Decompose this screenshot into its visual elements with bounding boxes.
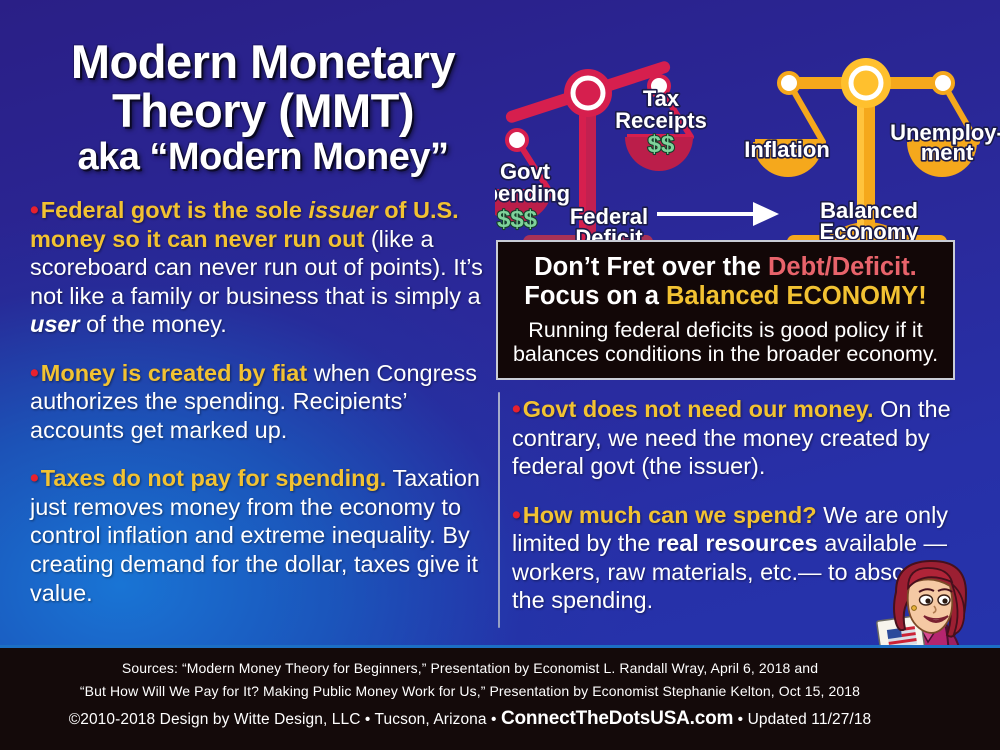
p2-highlight: Money is created by fiat: [41, 360, 307, 386]
footer-line-2: “But How Will We Pay for It? Making Publ…: [0, 680, 940, 703]
callout-head1-white: Don’t Fret over the: [534, 253, 768, 281]
website-link[interactable]: ConnectTheDotsUSA.com: [501, 708, 733, 729]
paragraph-govt-money: •Govt does not need our money. On the co…: [512, 395, 962, 481]
paragraph-issuer: •Federal govt is the sole issuer of U.S.…: [30, 196, 500, 339]
paragraph-taxes: •Taxes do not pay for spending. Taxation…: [30, 464, 500, 607]
bullet-icon: •: [30, 464, 39, 492]
bullet-icon: •: [512, 501, 521, 529]
infographic-poster: Modern Monetary Theory (MMT) aka “Modern…: [0, 0, 1000, 750]
unemployment-label-2: ment: [921, 140, 974, 165]
r2-body-emphasis: real resources: [657, 530, 818, 556]
page-title: Modern Monetary Theory (MMT) aka “Modern…: [28, 38, 498, 176]
callout-headline-2: Focus on a Balanced ECONOMY!: [524, 282, 926, 311]
tax-receipts-money: $$: [648, 131, 675, 158]
r2-highlight: How much can we spend?: [523, 502, 817, 528]
transition-arrow-icon: [657, 202, 779, 226]
title-line-3: aka “Modern Money”: [28, 138, 498, 176]
footer-line-3: ©2010-2018 Design by Witte Design, LLC •…: [0, 704, 940, 735]
bullet-icon: •: [512, 395, 521, 423]
footer-line-1: Sources: “Modern Money Theory for Beginn…: [0, 657, 940, 680]
callout-box: Don’t Fret over the Debt/Deficit. Focus …: [496, 240, 955, 380]
inflation-label: Inflation: [744, 137, 830, 162]
footer-updated: • Updated 11/27/18: [733, 711, 871, 728]
left-text-column: •Federal govt is the sole issuer of U.S.…: [30, 196, 500, 607]
p3-highlight: Taxes do not pay for spending.: [41, 465, 387, 491]
bullet-icon: •: [30, 359, 39, 387]
paragraph-fiat: •Money is created by fiat when Congress …: [30, 359, 500, 445]
footer-copyright: ©2010-2018 Design by Witte Design, LLC •…: [69, 711, 501, 728]
callout-head2-white: Focus on a: [524, 282, 666, 310]
callout-sub-2: balances conditions in the broader econo…: [513, 342, 938, 367]
r1-highlight: Govt does not need our money.: [523, 396, 874, 422]
p1-body-post: of the money.: [80, 311, 227, 337]
p1-highlight-pre: Federal govt is the sole: [41, 197, 309, 223]
govt-spending-label-2: Spending: [495, 181, 570, 206]
callout-head2-gold: Balanced ECONOMY!: [666, 282, 927, 310]
tax-receipts-label-2: Receipts: [615, 108, 707, 133]
bullet-icon: •: [30, 196, 39, 224]
p1-highlight-italic: issuer: [308, 197, 377, 223]
scales-diagram: Govt Spending $$$ Tax Receipts $$ Federa…: [495, 42, 1000, 247]
callout-head1-red: Debt/Deficit.: [768, 253, 917, 281]
govt-spending-money: $$$: [497, 206, 538, 233]
p1-body-emphasis: user: [30, 311, 80, 337]
footer-sources-bar: Sources: “Modern Money Theory for Beginn…: [0, 645, 1000, 750]
title-line-2: Theory (MMT): [28, 87, 498, 134]
title-line-1: Modern Monetary: [28, 38, 498, 85]
callout-headline-1: Don’t Fret over the Debt/Deficit.: [534, 253, 917, 282]
callout-sub-1: Running federal deficits is good policy …: [528, 318, 922, 343]
column-divider: [498, 392, 500, 628]
